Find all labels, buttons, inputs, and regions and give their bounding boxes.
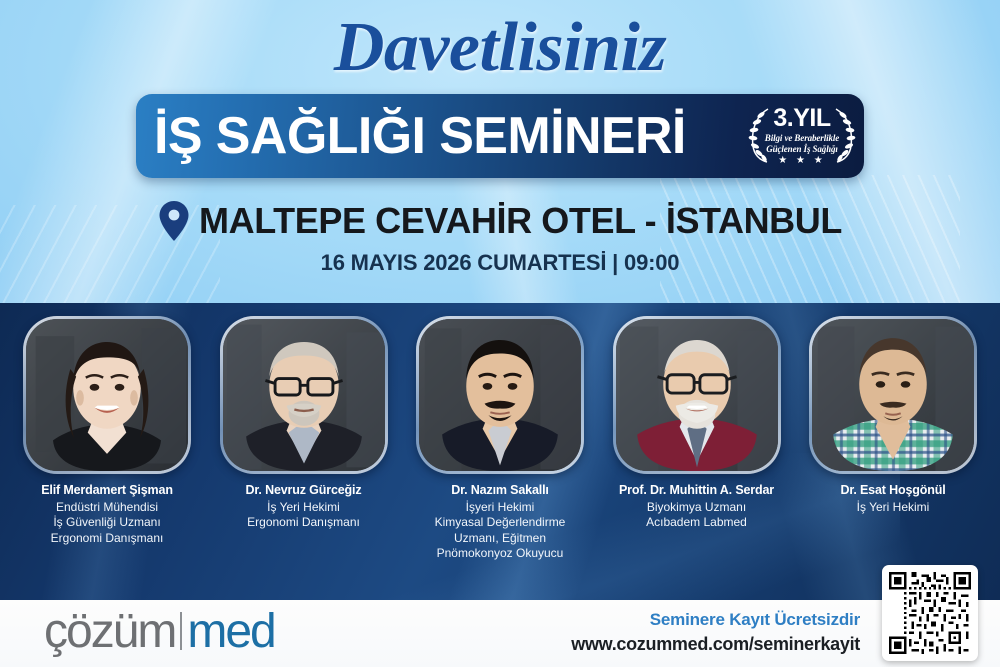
- laurel-right-icon: [832, 106, 856, 164]
- speaker-caption: Dr. Nazım Sakallı İşyeri Hekimi Kimyasal…: [405, 483, 595, 562]
- speaker-portrait-4: [616, 319, 778, 471]
- page-title: Davetlisiniz: [0, 8, 1000, 88]
- seminar-poster: Davetlisiniz İŞ SAĞLIĞI SEMİNERİ: [0, 0, 1000, 667]
- speaker-photo-frame: [416, 316, 584, 474]
- qr-code-card[interactable]: [882, 565, 978, 661]
- speaker-photo: [223, 319, 385, 471]
- speaker-title: Biyokimya Uzmanı: [602, 500, 792, 516]
- speaker-name: Prof. Dr. Muhittin A. Serdar: [602, 483, 792, 499]
- speaker-card: Dr. Esat Hoşgönül İş Yeri Hekimi: [800, 316, 986, 562]
- venue-name: MALTEPE CEVAHİR OTEL - İSTANBUL: [199, 203, 842, 239]
- speaker-caption: Elif Merdamert Şişman Endüstri Mühendisi…: [12, 483, 202, 546]
- speaker-title: Endüstri Mühendisi: [12, 500, 202, 516]
- speaker-card: Dr. Nevruz Gürceğiz İş Yeri Hekimi Ergon…: [211, 316, 397, 562]
- speaker-portrait-1: [26, 319, 188, 471]
- seminar-title: İŞ SAĞLIĞI SEMİNERİ: [136, 110, 746, 162]
- speaker-card: Elif Merdamert Şişman Endüstri Mühendisi…: [14, 316, 200, 562]
- speaker-title: Kimyasal Değerlendirme: [405, 515, 595, 531]
- anniversary-badge: 3.YIL Bilgi ve Beraberlikle Güçlenen İş …: [746, 94, 858, 178]
- speaker-title: İş Yeri Hekimi: [798, 500, 988, 516]
- registration-url[interactable]: www.cozummed.com/seminerkayit: [571, 634, 860, 655]
- speaker-portrait-5: [812, 319, 974, 471]
- speaker-title: Ergonomi Danışmanı: [209, 515, 399, 531]
- speakers-list: Elif Merdamert Şişman Endüstri Mühendisi…: [14, 316, 986, 562]
- speaker-title: Acıbadem Labmed: [602, 515, 792, 531]
- event-date: 16 MAYIS 2026 CUMARTESİ | 09:00: [0, 250, 1000, 276]
- speaker-photo: [812, 319, 974, 471]
- speaker-photo-frame: [23, 316, 191, 474]
- speaker-title: İşyeri Hekimi: [405, 500, 595, 516]
- speaker-title: İş Yeri Hekimi: [209, 500, 399, 516]
- registration-title: Seminere Kayıt Ücretsizdir: [571, 610, 860, 630]
- speaker-name: Dr. Esat Hoşgönül: [798, 483, 988, 499]
- logo-divider: [180, 612, 182, 650]
- speaker-title: Ergonomi Danışmanı: [12, 531, 202, 547]
- speaker-title: Pnömokonyoz Okuyucu: [405, 546, 595, 562]
- registration-info: Seminere Kayıt Ücretsizdir www.cozummed.…: [571, 610, 860, 655]
- speaker-name: Dr. Nevruz Gürceğiz: [209, 483, 399, 499]
- seminar-title-banner: İŞ SAĞLIĞI SEMİNERİ 3.YIL: [136, 94, 864, 178]
- speaker-caption: Dr. Nevruz Gürceğiz İş Yeri Hekimi Ergon…: [209, 483, 399, 531]
- speaker-photo-frame: [613, 316, 781, 474]
- speaker-photo: [419, 319, 581, 471]
- cozummed-logo: çözüm med: [44, 608, 275, 656]
- location-pin-icon: [158, 200, 190, 242]
- speaker-card: Dr. Nazım Sakallı İşyeri Hekimi Kimyasal…: [407, 316, 593, 562]
- venue-row: MALTEPE CEVAHİR OTEL - İSTANBUL: [0, 200, 1000, 242]
- speaker-photo-frame: [220, 316, 388, 474]
- speaker-name: Elif Merdamert Şişman: [12, 483, 202, 499]
- speaker-photo: [26, 319, 188, 471]
- speaker-caption: Dr. Esat Hoşgönül İş Yeri Hekimi: [798, 483, 988, 515]
- speaker-card: Prof. Dr. Muhittin A. Serdar Biyokimya U…: [604, 316, 790, 562]
- speaker-name: Dr. Nazım Sakallı: [405, 483, 595, 499]
- speaker-portrait-3: [419, 319, 581, 471]
- logo-text-med: med: [187, 608, 274, 656]
- speaker-title: Uzmanı, Eğitmen: [405, 531, 595, 547]
- speaker-photo-frame: [809, 316, 977, 474]
- speaker-caption: Prof. Dr. Muhittin A. Serdar Biyokimya U…: [602, 483, 792, 531]
- qr-code-icon[interactable]: [889, 572, 971, 654]
- speaker-title: İş Güvenliği Uzmanı: [12, 515, 202, 531]
- speaker-portrait-2: [223, 319, 385, 471]
- background-streaks-right: [660, 175, 960, 315]
- speaker-photo: [616, 319, 778, 471]
- logo-text-cozum: çözüm: [44, 608, 175, 656]
